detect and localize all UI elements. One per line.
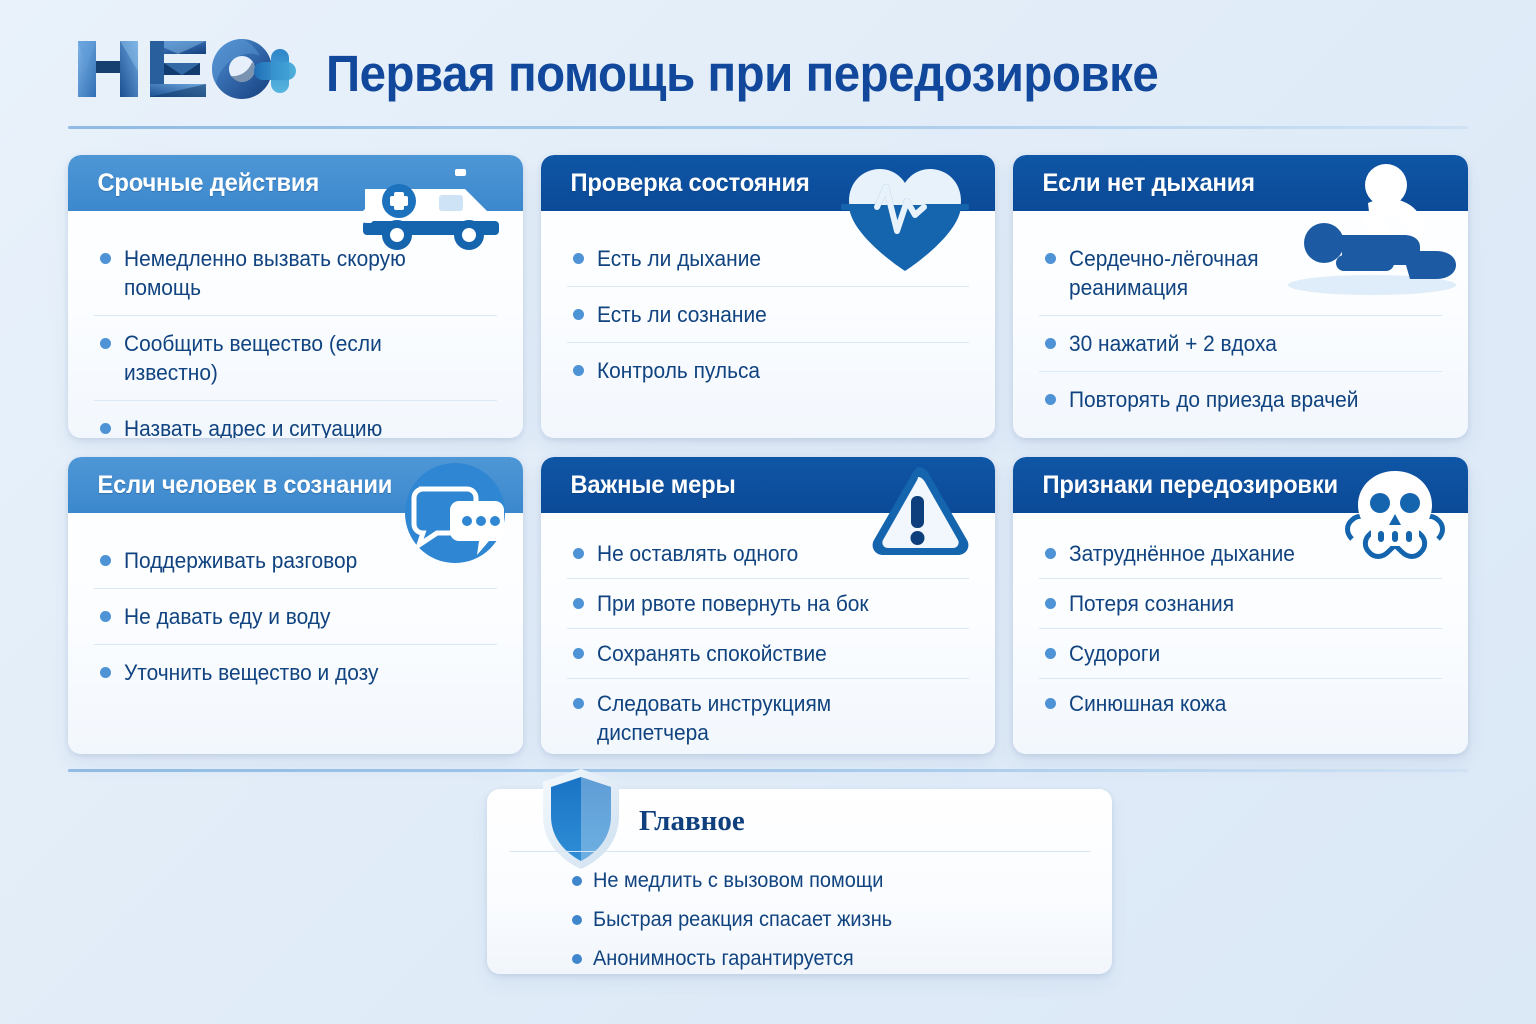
- bullet-dot: [572, 954, 582, 964]
- bullet-dot: [573, 365, 584, 376]
- card-header: Признаки передозировки: [1013, 457, 1468, 513]
- cards-row-1: Срочные действия: [68, 155, 1468, 438]
- neo-plus-logo: [74, 33, 296, 105]
- card-body: Есть ли дыхание Есть ли сознание Контрол…: [541, 211, 996, 412]
- list-item-text: Потеря сознания: [1069, 589, 1234, 618]
- bullet-dot: [573, 648, 584, 659]
- card-header: Проверка состояния: [541, 155, 996, 211]
- bullet-dot: [573, 253, 584, 264]
- list-item: Повторять до приезда врачей: [1039, 372, 1442, 427]
- list-item: Не давать еду и воду: [94, 589, 497, 645]
- card-no-breathing[interactable]: Если нет дыхания Сердечно: [1013, 155, 1468, 438]
- list-item-text: Не оставлять одного: [597, 539, 798, 568]
- list-item-text: Сохранять спокойствие: [597, 639, 827, 668]
- list-item: Быстрая реакция спасает жизнь: [572, 900, 908, 939]
- list-item: Уточнить вещество и дозу: [94, 645, 497, 700]
- list-item: Есть ли сознание: [567, 287, 970, 343]
- list-item-text: Сердечно-лёгочная реанимация: [1069, 244, 1288, 302]
- list-item-text: Не давать еду и воду: [124, 602, 330, 631]
- list-item-text: Контроль пульса: [597, 356, 760, 385]
- card-important-measures[interactable]: Важные меры Не оставлять одного При рвот…: [541, 457, 996, 754]
- cards-grid: Срочные действия: [68, 155, 1468, 754]
- card-header: Срочные действия: [68, 155, 523, 211]
- list-item: При рвоте повернуть на бок: [567, 579, 970, 629]
- card-body: Сердечно-лёгочная реанимация 30 нажатий …: [1013, 211, 1468, 438]
- card-body: Затруднённое дыхание Потеря сознания Суд…: [1013, 513, 1468, 742]
- card-title: Если нет дыхания: [1013, 169, 1255, 198]
- list-item-text: Сообщить вещество (если известно): [124, 329, 438, 387]
- list-item: Судороги: [1039, 629, 1442, 679]
- bullet-dot: [1045, 338, 1056, 349]
- card-body: Поддерживать разговор Не давать еду и во…: [68, 513, 523, 714]
- list-item: Потеря сознания: [1039, 579, 1442, 629]
- list-item-text: Есть ли сознание: [597, 300, 767, 329]
- list-item-text: Быстрая реакция спасает жизнь: [593, 908, 892, 932]
- list-item: Сохранять спокойствие: [567, 629, 970, 679]
- bullet-dot: [100, 611, 111, 622]
- list-item: Не оставлять одного: [567, 529, 970, 579]
- bullet-dot: [1045, 548, 1056, 559]
- card-person-conscious[interactable]: Если человек в сознании Поддерживать раз…: [68, 457, 523, 754]
- bullet-dot: [100, 253, 111, 264]
- list-item-text: Немедленно вызвать скорую помощь: [124, 244, 438, 302]
- list-item-text: Поддерживать разговор: [124, 546, 357, 575]
- list-item-text: 30 нажатий + 2 вдоха: [1069, 329, 1277, 358]
- card-body: Не оставлять одного При рвоте повернуть …: [541, 513, 996, 754]
- page-title: Первая помощь при передозировке: [326, 40, 1158, 108]
- bullet-dot: [1045, 698, 1056, 709]
- card-header: Если нет дыхания: [1013, 155, 1468, 211]
- summary-separator: [509, 851, 1090, 852]
- list-item-text: Не медлить с вызовом помощи: [593, 869, 883, 893]
- list-item-text: Затруднённое дыхание: [1069, 539, 1295, 568]
- bullet-dot: [573, 598, 584, 609]
- list-item: Поддерживать разговор: [94, 533, 497, 589]
- cards-row-2: Если человек в сознании Поддерживать раз…: [68, 457, 1468, 754]
- bullet-dot: [1045, 253, 1056, 264]
- list-item: Контроль пульса: [567, 343, 970, 398]
- summary-title: Главное: [639, 805, 745, 838]
- bullet-dot: [100, 338, 111, 349]
- list-item-text: Есть ли дыхание: [597, 244, 761, 273]
- bullet-dot: [100, 555, 111, 566]
- bullet-dot: [1045, 394, 1056, 405]
- summary-list: Не медлить с вызовом помощи Быстрая реак…: [572, 861, 908, 978]
- list-item-text: Назвать адрес и ситуацию: [124, 414, 382, 438]
- list-item: Затруднённое дыхание: [1039, 529, 1442, 579]
- list-item: 30 нажатий + 2 вдоха: [1039, 316, 1442, 372]
- bullet-dot: [573, 548, 584, 559]
- bullet-dot: [573, 309, 584, 320]
- list-item: Анонимность гарантируется: [572, 939, 908, 978]
- list-item-text: Следовать инструкциям диспетчера: [597, 689, 939, 747]
- bullet-dot: [1045, 648, 1056, 659]
- list-item-text: Судороги: [1069, 639, 1160, 668]
- bullet-dot: [572, 915, 582, 925]
- card-condition-check[interactable]: Проверка состояния Есть ли дыхание Есть …: [541, 155, 996, 438]
- card-overdose-signs[interactable]: Признаки передозировки: [1013, 457, 1468, 754]
- summary-card[interactable]: Главное Не медлить с вызовом помощи Быст…: [487, 789, 1112, 974]
- card-title: Признаки передозировки: [1013, 471, 1338, 500]
- footer-divider: [68, 769, 1468, 772]
- list-item-text: Синюшная кожа: [1069, 689, 1226, 718]
- card-body: Немедленно вызвать скорую помощь Сообщит…: [68, 211, 523, 438]
- list-item-text: Уточнить вещество и дозу: [124, 658, 378, 687]
- list-item: Немедленно вызвать скорую помощь: [94, 231, 497, 316]
- header-divider: [68, 126, 1468, 129]
- card-title: Важные меры: [541, 471, 736, 500]
- page-header: Первая помощь при передозировке: [0, 0, 1536, 140]
- list-item: Синюшная кожа: [1039, 679, 1442, 728]
- list-item: Сердечно-лёгочная реанимация: [1039, 231, 1442, 316]
- list-item: Сообщить вещество (если известно): [94, 316, 497, 401]
- bullet-dot: [573, 698, 584, 709]
- list-item: Не медлить с вызовом помощи: [572, 861, 908, 900]
- list-item: Следовать инструкциям диспетчера: [567, 679, 970, 754]
- shield-icon: [537, 767, 625, 871]
- card-header: Если человек в сознании: [68, 457, 523, 513]
- card-title: Проверка состояния: [541, 169, 810, 198]
- list-item-text: Повторять до приезда врачей: [1069, 385, 1358, 414]
- card-title: Если человек в сознании: [68, 471, 392, 500]
- list-item-text: При рвоте повернуть на бок: [597, 589, 869, 618]
- list-item: Назвать адрес и ситуацию: [94, 401, 497, 438]
- card-title: Срочные действия: [68, 169, 319, 198]
- bullet-dot: [1045, 598, 1056, 609]
- list-item: Есть ли дыхание: [567, 231, 970, 287]
- card-header: Важные меры: [541, 457, 996, 513]
- bullet-dot: [100, 667, 111, 678]
- bullet-dot: [100, 423, 111, 434]
- card-urgent-actions[interactable]: Срочные действия: [68, 155, 523, 438]
- bullet-dot: [572, 876, 582, 886]
- list-item-text: Анонимность гарантируется: [593, 947, 854, 971]
